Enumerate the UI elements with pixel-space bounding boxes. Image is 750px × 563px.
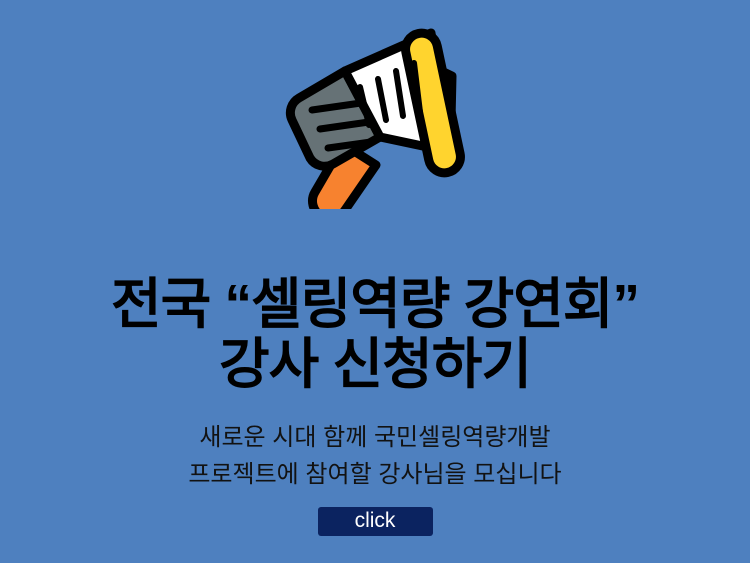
cta-container: click: [0, 507, 750, 536]
headline-line-2: 강사 신청하기: [0, 334, 750, 394]
subtitle: 새로운 시대 함께 국민셀링역량개발 프로젝트에 참여할 강사님을 모십니다: [0, 419, 750, 493]
megaphone-icon: [279, 24, 479, 209]
megaphone-icon-graphic: [279, 24, 479, 209]
headline-line-1: 전국 “셀링역량 강연회”: [0, 274, 750, 334]
subtitle-line-2: 프로젝트에 참여할 강사님을 모십니다: [0, 456, 750, 493]
promo-banner: 전국 “셀링역량 강연회” 강사 신청하기 새로운 시대 함께 국민셀링역량개발…: [0, 0, 750, 563]
click-button[interactable]: click: [318, 507, 433, 536]
subtitle-line-1: 새로운 시대 함께 국민셀링역량개발: [0, 419, 750, 456]
headline: 전국 “셀링역량 강연회” 강사 신청하기: [0, 274, 750, 394]
